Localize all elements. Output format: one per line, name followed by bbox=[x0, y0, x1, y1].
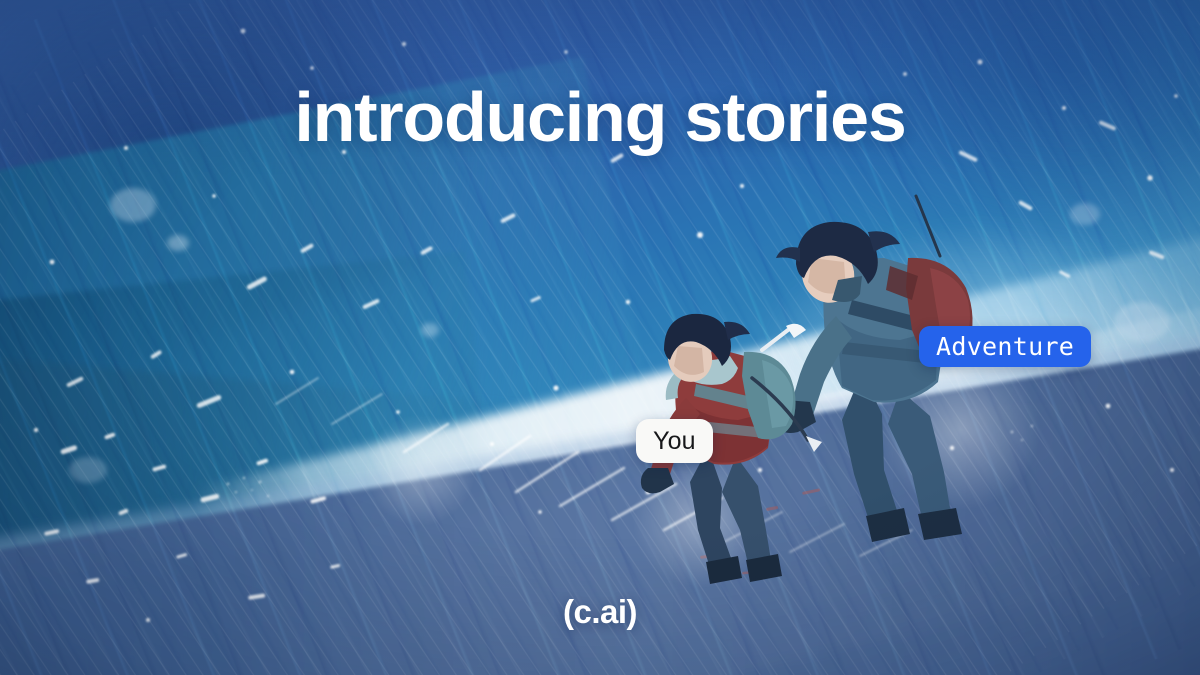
persona-tag-you[interactable]: You bbox=[636, 419, 713, 463]
genre-tag-adventure[interactable]: Adventure bbox=[919, 326, 1091, 367]
hero-canvas: introducing stories You Adventure (c.ai) bbox=[0, 0, 1200, 675]
brand-logo: (c.ai) bbox=[0, 593, 1200, 631]
page-title: introducing stories bbox=[0, 82, 1200, 152]
